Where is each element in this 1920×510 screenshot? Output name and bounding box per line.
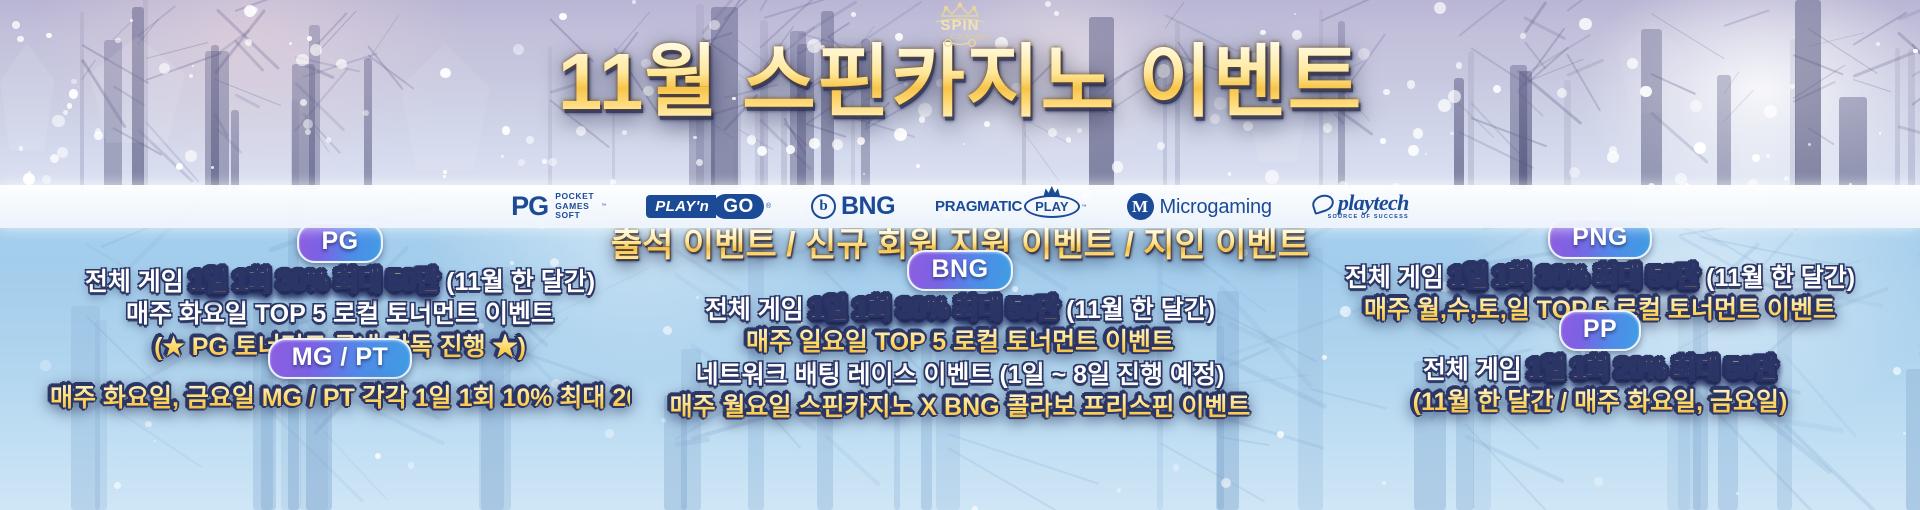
promo-highlight: 1일 1회 30% 최대 50만 [191,268,439,296]
crown-icon [1043,186,1060,197]
promo-text: 전체 게임 [85,268,191,296]
svg-text:SPIN: SPIN [940,17,979,34]
spin-casino-logo-svg: SPIN CASINO [912,2,1008,50]
banner-title: 11월 스핀카지노 이벤트 [0,42,1920,122]
pragmatic-play-word: PLAY [1035,199,1068,214]
playtech-swoosh-icon [1310,192,1336,215]
svg-text:CASINO: CASINO [950,34,989,41]
pragmatic-word: PRAGMATIC [935,199,1022,214]
playtech-wordmark: playtech [1338,192,1409,214]
badge-wrap-pp: PP [1300,310,1900,351]
promo-line: 전체 게임 1일 1회 30% 최대 50만 (11월 한 달간) [1300,262,1900,295]
promo-line: 네트워크 배팅 레이스 이벤트 (1일 ~ 8일 진행 예정) [620,359,1300,392]
pg-word-soft: SOFT [555,211,594,221]
promo-highlight: 1일 1회 20% 최대 50만 [1529,356,1777,384]
promo-line: 매주 일요일 TOP 5 로컬 토너먼트 이벤트 [620,326,1300,359]
pg-letters: PG [511,193,548,220]
promo-column-mgpt: MG / PT 매주 화요일, 금요일 MG / PT 각각 1일 1회 10%… [50,338,630,414]
pg-pixel-mark-icon: PG [511,193,548,220]
promo-line: 매주 화요일, 금요일 MG / PT 각각 1일 1회 10% 최대 20만 [50,382,630,415]
pg-wordmark: POCKET GAMES SOFT [555,192,594,221]
microgaming-circle-icon: M [1127,193,1154,220]
provider-logo-bng: b BNG [811,194,895,219]
badge-wrap-mgpt: MG / PT [50,338,630,379]
promo-highlight: 1일 1회 30% 최대 50만 [1451,264,1699,292]
playtech-row: playtech [1312,192,1409,214]
promo-line: 매주 월요일 스핀카지노 X BNG 콜라보 프리스핀 이벤트 [620,391,1300,424]
bng-circle-icon: b [811,194,836,219]
promo-text: 전체 게임 [1423,356,1529,384]
promo-text: (11월 한 달간) [1059,296,1215,324]
provider-logo-pocket-games-soft: PG POCKET GAMES SOFT ™ [511,192,606,221]
promo-column-pp: PP 전체 게임 1일 1회 20% 최대 50만(11월 한 달간 / 매주 … [1300,310,1900,419]
microgaming-wordmark: Microgaming [1160,197,1272,217]
promo-lines-bng: 전체 게임 1일 1회 30% 최대 50만 (11월 한 달간)매주 일요일 … [620,294,1300,424]
promo-text: (11월 한 달간) [439,268,595,296]
promo-text: (11월 한 달간) [1699,264,1855,292]
playn-go-part2: GO [713,194,764,219]
promo-lines-pp: 전체 게임 1일 1회 20% 최대 50만(11월 한 달간 / 매주 화요일… [1300,354,1900,419]
pg-trademark: ™ [601,203,606,209]
provider-badge-pp[interactable]: PP [1559,310,1641,351]
playn-go-registered: ® [766,203,771,210]
promo-banner: SPIN CASINO 11월 스핀카지노 이벤트 PG POCKET GAME… [0,0,1920,510]
pragmatic-play-oval: PLAY [1024,195,1079,218]
promo-line: 전체 게임 1일 1회 30% 최대 50만 (11월 한 달간) [620,294,1300,327]
promo-line: 매주 화요일 TOP 5 로컬 토너먼트 이벤트 [50,298,630,331]
provider-logo-playn-go: PLAY'n GO ® [646,194,771,219]
promo-line: 전체 게임 1일 1회 20% 최대 50만 [1300,354,1900,387]
promo-column-bng: BNG 전체 게임 1일 1회 30% 최대 50만 (11월 한 달간)매주 … [620,250,1300,424]
pragmatic-trademark: ™ [1082,204,1087,210]
promo-line: 전체 게임 1일 1회 30% 최대 50만 (11월 한 달간) [50,266,630,299]
badge-wrap-pg: PG [50,222,630,263]
spin-casino-logo: SPIN CASINO [912,2,1008,50]
provider-badge-mgpt[interactable]: MG / PT [268,338,413,379]
provider-logo-microgaming: M Microgaming [1127,193,1272,220]
provider-badge-pg[interactable]: PG [297,222,382,263]
playtech-tagline: SOURCE OF SUCCESS [1328,215,1409,221]
badge-wrap-bng: BNG [620,250,1300,291]
promo-lines-mgpt: 매주 화요일, 금요일 MG / PT 각각 1일 1회 10% 최대 20만 [50,382,630,415]
promo-text: 전체 게임 [705,296,811,324]
playn-go-part1: PLAY'n [646,195,716,218]
provider-badge-bng[interactable]: BNG [907,250,1012,291]
promo-line: (11월 한 달간 / 매주 화요일, 금요일) [1300,386,1900,419]
provider-logo-strip: PG POCKET GAMES SOFT ™ PLAY'n GO ® b BNG… [0,185,1920,228]
provider-logo-playtech: playtech SOURCE OF SUCCESS [1312,192,1409,221]
provider-logo-pragmatic-play: PRAGMATIC PLAY ™ [935,195,1087,218]
promo-text: 전체 게임 [1345,264,1451,292]
bng-wordmark: BNG [841,194,895,219]
promo-highlight: 1일 1회 30% 최대 50만 [811,296,1059,324]
